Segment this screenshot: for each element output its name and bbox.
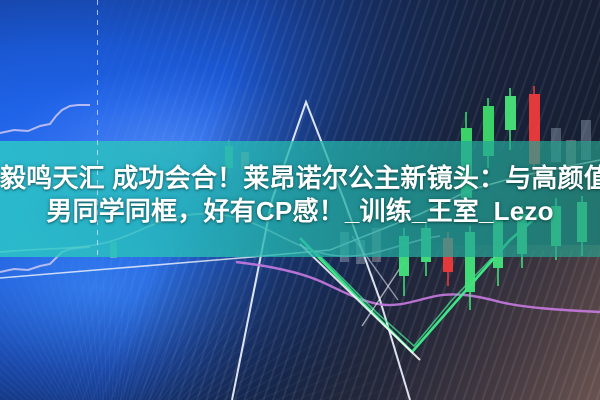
line-white-x2: [362, 262, 404, 326]
caption-line-2: 男同学同框，好有CP感！_训练_王室_Lezo: [0, 195, 600, 228]
banner-caption: 毅鸣天汇 成功会合！莱昂诺尔公主新镜头：与高颜值 男同学同框，好有CP感！_训练…: [0, 162, 600, 228]
line-lavender-upper: [0, 105, 90, 133]
line-magenta-ma: [236, 262, 600, 312]
caption-line-1: 毅鸣天汇 成功会合！莱昂诺尔公主新镜头：与高颜值: [0, 162, 600, 195]
banner-image: 毅鸣天汇 成功会合！莱昂诺尔公主新镜头：与高颜值 男同学同框，好有CP感！_训练…: [0, 0, 600, 400]
